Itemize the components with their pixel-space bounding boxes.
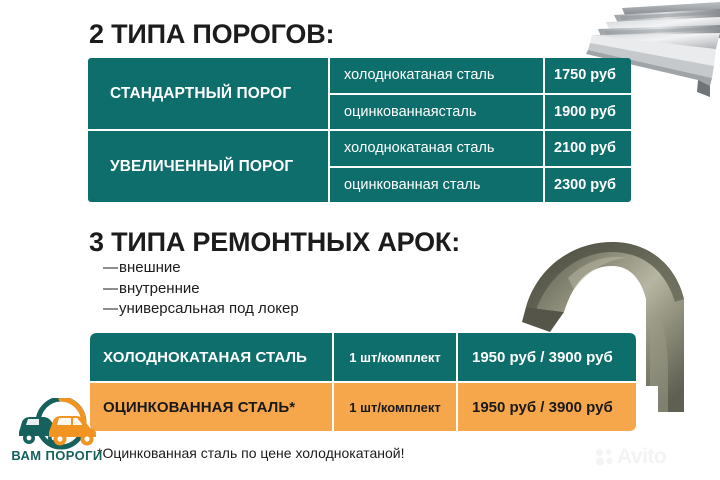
price-cell: 1900 руб [543, 95, 631, 130]
material-cell: оцинкованная сталь [330, 168, 543, 203]
sills-price-table: СТАНДАРТНЫЙ ПОРОГ холоднокатаная сталь 1… [88, 58, 631, 202]
table-row-group-standard: СТАНДАРТНЫЙ ПОРОГ холоднокатаная сталь 1… [88, 58, 631, 129]
price-cell: 1750 руб [543, 58, 631, 93]
table-row: оцинкованнаясталь 1900 руб [330, 93, 631, 130]
dash-icon: — [103, 279, 119, 300]
sill-type-label: СТАНДАРТНЫЙ ПОРОГ [88, 58, 328, 129]
list-item-label: универсальная под локер [119, 299, 299, 320]
list-item-label: внешние [119, 258, 181, 279]
brand-logo: ВАМ ПОРОГИ [9, 398, 105, 472]
list-item: — внутренние [103, 279, 433, 300]
dash-icon: — [103, 299, 119, 320]
price-cell: 2100 руб [543, 131, 631, 166]
footnote-text: *Оцинкованная сталь по цене холоднокатан… [97, 445, 404, 461]
sill-type-label: УВЕЛИЧЕННЫЙ ПОРОГ [88, 131, 328, 202]
dash-icon: — [103, 258, 119, 279]
avito-label: Avito [617, 445, 666, 469]
material-cell: холоднокатаная сталь [330, 58, 543, 93]
table-row: оцинкованная сталь 2300 руб [330, 166, 631, 203]
price-cell: 1950 руб / 3900 руб [456, 383, 636, 431]
table-row: ХОЛОДНОКАТАНАЯ СТАЛЬ 1 шт/комплект 1950 … [90, 333, 636, 381]
table-row: ОЦИНКОВАННАЯ СТАЛЬ* 1 шт/комплект 1950 р… [90, 381, 636, 431]
material-cell: ХОЛОДНОКАТАНАЯ СТАЛЬ [90, 333, 332, 381]
sill-variant-rows: холоднокатаная сталь 2100 руб оцинкованн… [328, 131, 631, 202]
table-row: холоднокатаная сталь 1750 руб [330, 58, 631, 93]
arches-section-heading: 3 ТИПА РЕМОНТНЫХ АРОК: [89, 227, 460, 258]
avito-dots-icon [594, 447, 614, 467]
material-cell: оцинкованнаясталь [330, 95, 543, 130]
material-cell: холоднокатаная сталь [330, 131, 543, 166]
list-item-label: внутренние [119, 279, 200, 300]
car-in-oval-icon [15, 398, 99, 450]
promo-page: 2 ТИПА ПОРОГОВ: СТАНДАРТНЫЙ ПОРОГ холодн… [0, 0, 720, 480]
table-row: холоднокатаная сталь 2100 руб [330, 131, 631, 166]
list-item: — универсальная под локер [103, 299, 433, 320]
sill-variant-rows: холоднокатаная сталь 1750 руб оцинкованн… [328, 58, 631, 129]
quantity-cell: 1 шт/комплект [332, 383, 456, 431]
price-cell: 1950 руб / 3900 руб [456, 333, 636, 381]
material-cell: ОЦИНКОВАННАЯ СТАЛЬ* [90, 383, 332, 431]
arch-types-list: — внешние — внутренние — универсальная п… [103, 258, 433, 320]
list-item: — внешние [103, 258, 433, 279]
brand-name: ВАМ ПОРОГИ [9, 448, 105, 463]
avito-watermark: Avito [594, 443, 706, 471]
quantity-cell: 1 шт/комплект [332, 333, 456, 381]
arches-price-table: ХОЛОДНОКАТАНАЯ СТАЛЬ 1 шт/комплект 1950 … [90, 333, 636, 431]
sills-section-heading: 2 ТИПА ПОРОГОВ: [89, 19, 334, 50]
table-row-group-extended: УВЕЛИЧЕННЫЙ ПОРОГ холоднокатаная сталь 2… [88, 129, 631, 202]
price-cell: 2300 руб [543, 168, 631, 203]
